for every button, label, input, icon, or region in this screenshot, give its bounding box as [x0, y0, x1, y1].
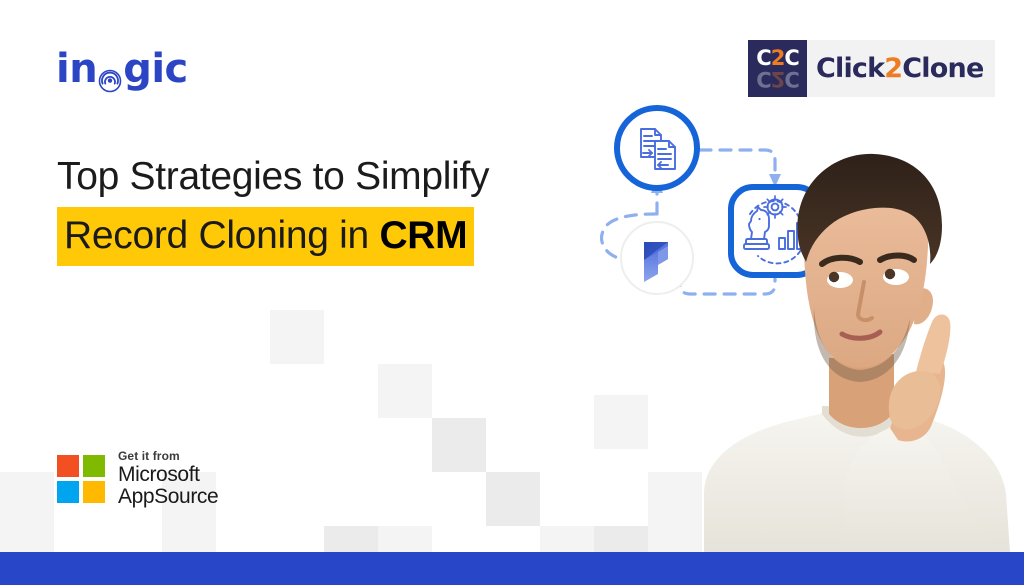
c2c-mark-reflection: C2C — [748, 68, 807, 89]
node-clone-records[interactable] — [617, 108, 697, 188]
tile-green — [83, 455, 105, 477]
background-square — [486, 472, 540, 526]
appsource-text: Get it from Microsoft AppSource — [118, 450, 218, 508]
appsource-get-it-from: Get it from — [118, 450, 218, 462]
bottom-accent-bar — [0, 552, 1024, 585]
spiral-target-icon — [98, 60, 122, 84]
appsource-microsoft: Microsoft — [118, 464, 218, 486]
node-dynamics-365[interactable] — [621, 222, 693, 294]
inogic-wordmark: in gic — [56, 49, 188, 89]
headline-line-2-text: Record Cloning in — [64, 214, 379, 257]
background-square — [594, 395, 648, 449]
index-finger — [916, 315, 950, 375]
pupil-left — [829, 272, 839, 282]
tile-blue — [57, 481, 79, 503]
appsource-appsource: AppSource — [118, 486, 218, 508]
inogic-text-after: gic — [123, 49, 188, 89]
c2c-word-after: Clone — [902, 53, 983, 84]
headline-line-2-wrap: Record Cloning in CRM — [57, 207, 617, 266]
headline: Top Strategies to Simplify Record Clonin… — [57, 152, 617, 266]
thoughtful-man-photo — [694, 122, 1024, 552]
tile-red — [57, 455, 79, 477]
background-square — [0, 472, 54, 526]
headline-line-1: Top Strategies to Simplify — [57, 152, 617, 201]
pupil-right — [885, 269, 895, 279]
background-square — [432, 418, 486, 472]
c2c-word-before: Click — [816, 53, 884, 84]
promo-banner: in gic C2C C2C Click2Clone Top Strategie… — [0, 0, 1024, 585]
headline-crm-bold: CRM — [379, 214, 467, 257]
microsoft-logo-icon — [57, 455, 105, 503]
background-square — [378, 364, 432, 418]
tile-yellow — [83, 481, 105, 503]
c2c-word-accent: 2 — [884, 53, 902, 84]
inogic-logo[interactable]: in gic — [56, 46, 188, 92]
c2c-mark-text: C2C — [748, 48, 807, 69]
inogic-text-before: in — [56, 49, 97, 89]
background-square — [270, 310, 324, 364]
headline-highlight: Record Cloning in CRM — [57, 207, 474, 266]
microsoft-appsource-badge[interactable]: Get it from Microsoft AppSource — [57, 450, 218, 508]
